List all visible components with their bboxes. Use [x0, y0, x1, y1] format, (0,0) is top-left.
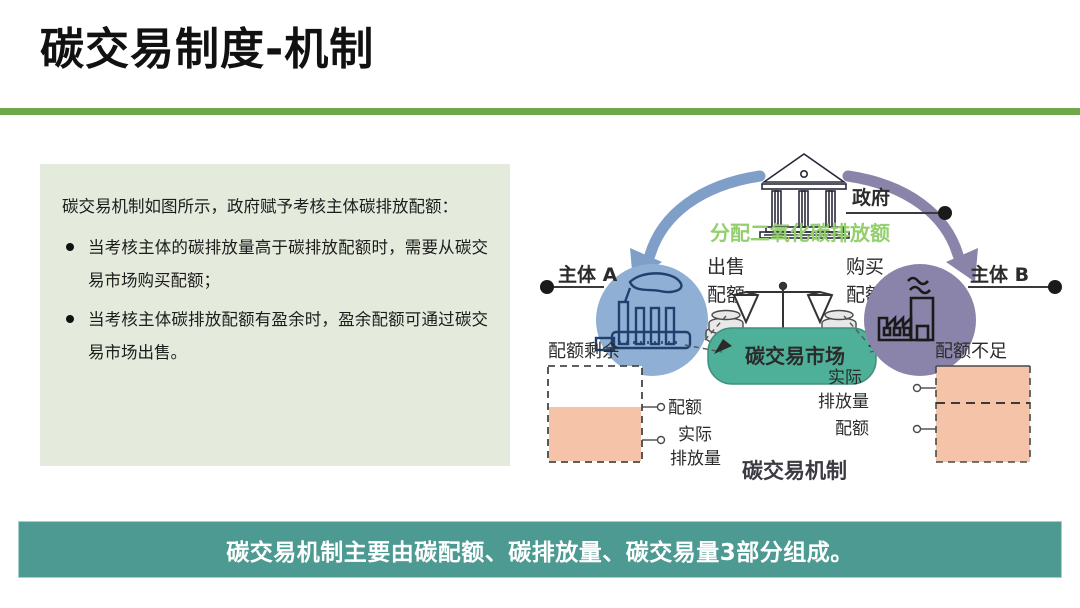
- list-item: 当考核主体的碳排放量高于碳排放配额时，需要从碳交易市场购买配额；: [62, 231, 488, 297]
- diagram-caption: 碳交易机制: [742, 459, 847, 483]
- deficit-title: 配额不足: [935, 341, 1007, 362]
- explanation-bullet-list: 当考核主体的碳排放量高于碳排放配额时，需要从碳交易市场购买配额； 当考核主体碳排…: [62, 231, 488, 369]
- summary-banner: 碳交易机制主要由碳配额、碳排放量、碳交易量3部分组成。: [18, 521, 1062, 578]
- surplus-bar-chart: [548, 366, 665, 462]
- title-underline-rule: [0, 108, 1080, 115]
- carbon-market-label: 碳交易市场: [745, 344, 845, 368]
- summary-banner-text: 碳交易机制主要由碳配额、碳排放量、碳交易量3部分组成。: [226, 533, 854, 567]
- buy-label-line1: 购买: [846, 256, 884, 278]
- deficit-actual-label-line1: 实际: [828, 368, 862, 388]
- surplus-actual-label-line1: 实际: [678, 425, 712, 445]
- surplus-actual-label-line2: 排放量: [670, 449, 721, 469]
- government-label: 政府: [852, 186, 890, 209]
- allocation-label: 分配二氧化碳排放额: [710, 221, 890, 245]
- surplus-title: 配额剩余: [548, 341, 620, 362]
- deficit-actual-label-line2: 排放量: [818, 392, 869, 412]
- carbon-trading-mechanism-diagram: 政府 分配二氧化碳排放额: [530, 140, 1078, 492]
- sell-label-line1: 出售: [707, 256, 745, 278]
- entity-a-label: 主体 A: [558, 263, 618, 286]
- deficit-bar-chart: [914, 366, 1031, 462]
- list-item: 当考核主体碳排放配额有盈余时，盈余配额可通过碳交易市场出售。: [62, 303, 488, 369]
- explanation-lead-text: 碳交易机制如图所示，政府赋予考核主体碳排放配额：: [62, 190, 488, 223]
- page-title: 碳交易制度-机制: [40, 26, 374, 74]
- deficit-quota-label: 配额: [835, 419, 869, 439]
- surplus-quota-label: 配额: [668, 398, 702, 418]
- entity-b-label: 主体 B: [970, 263, 1029, 286]
- explanation-panel: 碳交易机制如图所示，政府赋予考核主体碳排放配额： 当考核主体的碳排放量高于碳排放…: [40, 164, 510, 466]
